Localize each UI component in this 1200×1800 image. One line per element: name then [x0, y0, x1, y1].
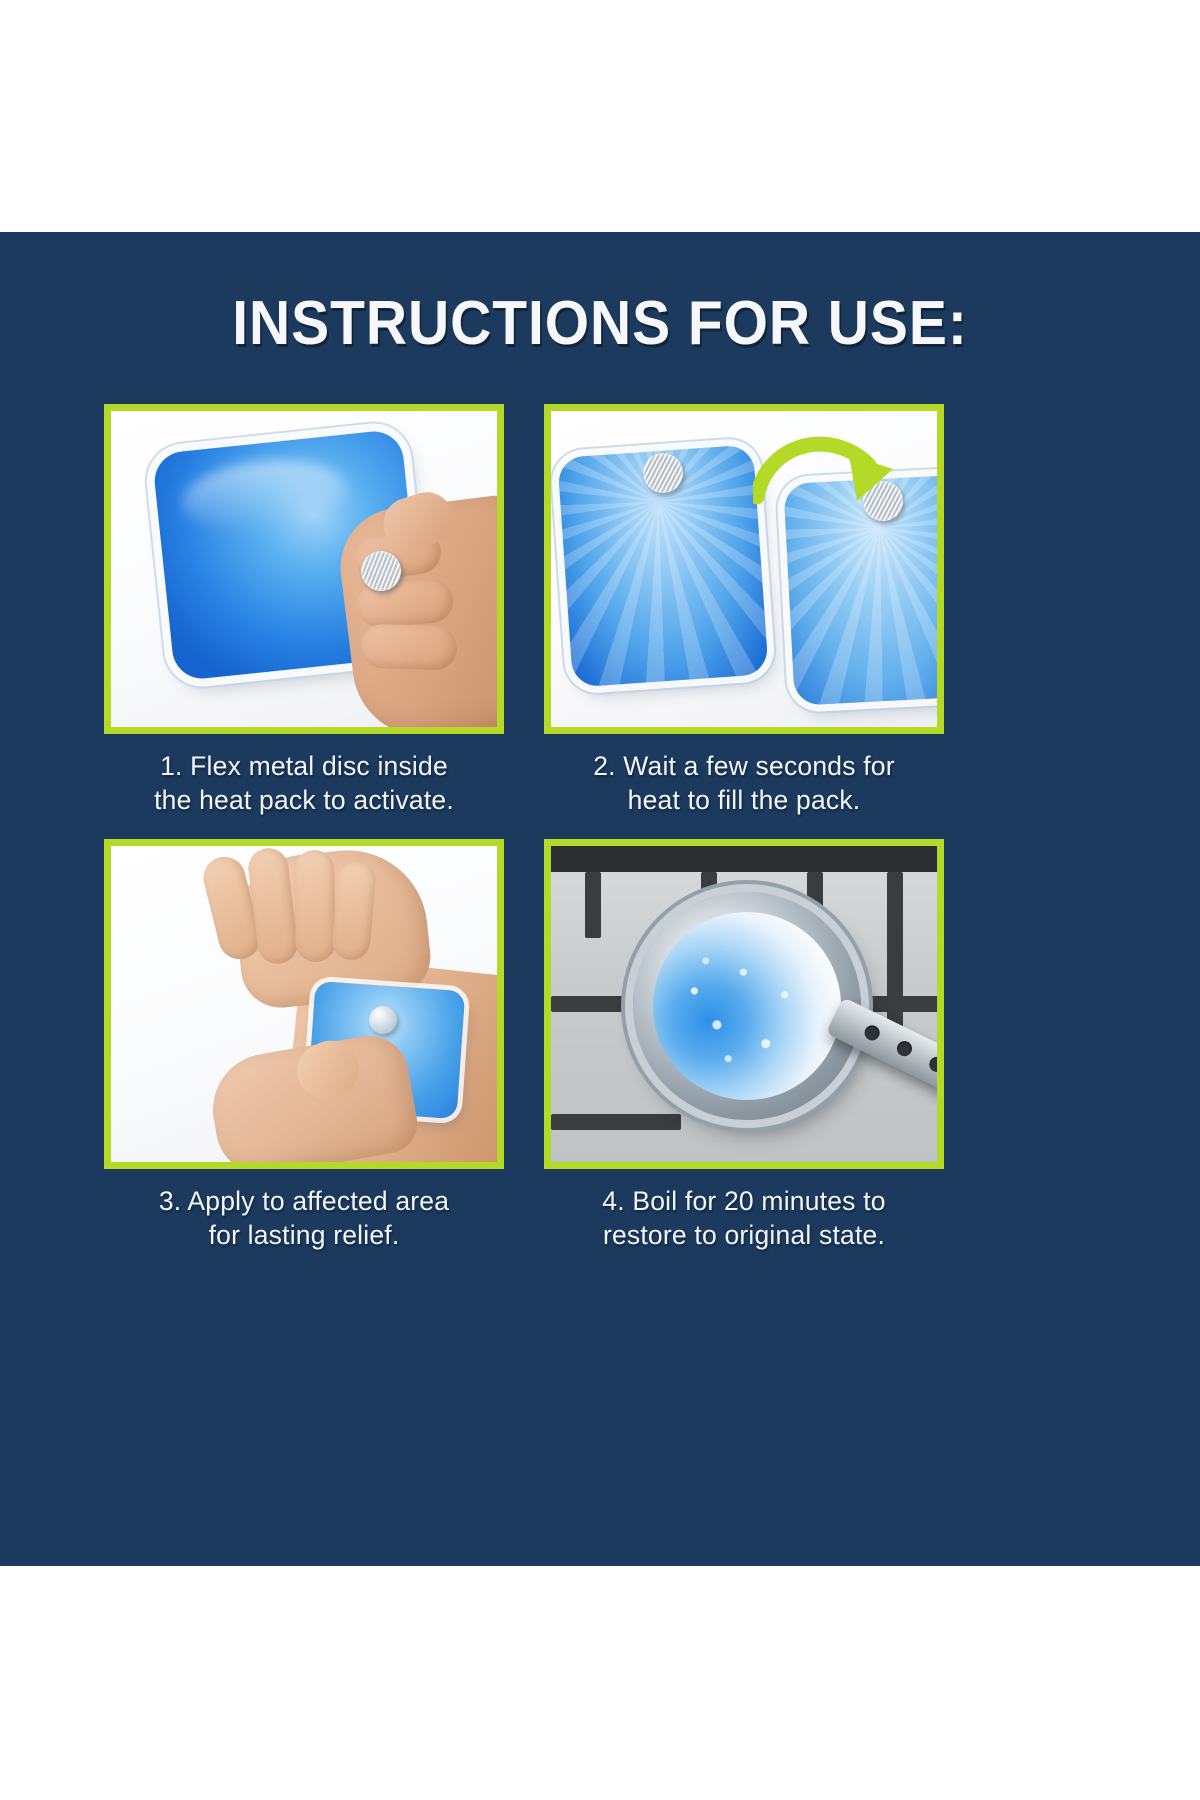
step-2-photo-frame [544, 404, 944, 734]
step-2-caption: 2. Wait a few seconds for heat to fill t… [544, 750, 944, 817]
finger-icon [294, 850, 336, 963]
step-3: 3. Apply to affected area for lasting re… [104, 839, 504, 1252]
step-3-photo [111, 846, 497, 1162]
step-1-caption: 1. Flex metal disc inside the heat pack … [104, 750, 504, 817]
step-4: 4. Boil for 20 minutes to restore to ori… [544, 839, 944, 1252]
step-4-caption-line-2: restore to original state. [544, 1219, 944, 1253]
step-3-caption-line-2: for lasting relief. [104, 1219, 504, 1253]
bubbles-icon [653, 912, 841, 1100]
step-1-caption-line-2: the heat pack to activate. [104, 784, 504, 818]
hob-grate [585, 872, 601, 938]
instructions-panel: INSTRUCTIONS FOR USE: [0, 232, 1200, 1566]
step-4-caption: 4. Boil for 20 minutes to restore to ori… [544, 1185, 944, 1252]
curved-arrow-icon [753, 425, 903, 535]
hob-trim [551, 846, 937, 872]
handle-rivet [894, 1039, 914, 1059]
boiling-water-icon [653, 912, 841, 1100]
step-3-caption-line-1: 3. Apply to affected area [104, 1185, 504, 1219]
step-3-photo-frame [104, 839, 504, 1169]
step-1-photo-frame [104, 404, 504, 734]
steps-grid: 1. Flex metal disc inside the heat pack … [104, 404, 984, 1253]
step-3-caption: 3. Apply to affected area for lasting re… [104, 1185, 504, 1252]
step-1-caption-line-1: 1. Flex metal disc inside [104, 750, 504, 784]
step-1-photo [111, 411, 497, 727]
handle-rivet [862, 1023, 882, 1043]
step-4-caption-line-1: 4. Boil for 20 minutes to [544, 1185, 944, 1219]
step-2: 2. Wait a few seconds for heat to fill t… [544, 404, 944, 817]
step-4-photo [551, 846, 937, 1162]
handle-rivet [927, 1055, 937, 1075]
infographic-page: INSTRUCTIONS FOR USE: [0, 0, 1200, 1800]
step-2-caption-line-2: heat to fill the pack. [544, 784, 944, 818]
step-4-photo-frame [544, 839, 944, 1169]
hob-grate [551, 1114, 681, 1130]
metal-disc-icon [643, 453, 683, 493]
saucepan-icon [633, 892, 861, 1120]
step-1: 1. Flex metal disc inside the heat pack … [104, 404, 504, 817]
step-2-photo [551, 411, 937, 727]
finger-icon [360, 623, 457, 670]
page-title: INSTRUCTIONS FOR USE: [48, 288, 1152, 359]
step-2-caption-line-1: 2. Wait a few seconds for [544, 750, 944, 784]
